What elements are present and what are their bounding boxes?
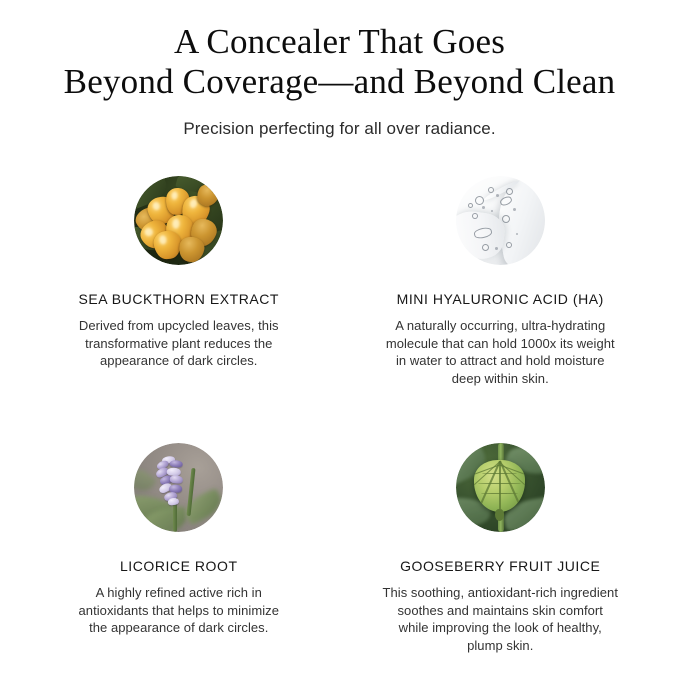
description-line: while improving the look of healthy,: [382, 619, 618, 637]
gooseberry-husk: [474, 460, 526, 512]
gooseberry-thumbnail: [456, 443, 545, 532]
licorice-root-thumbnail: [134, 443, 223, 532]
description-line: A highly refined active rich in: [79, 584, 279, 602]
ingredient-benefits-page: A Concealer That Goes Beyond Coverage—an…: [0, 0, 679, 679]
description-line: deep within skin.: [386, 370, 615, 388]
ingredient-title: LICORICE ROOT: [120, 558, 238, 575]
ingredient-title: GOOSEBERRY FRUIT JUICE: [400, 558, 600, 575]
page-subtitle: Precision perfecting for all over radian…: [0, 118, 679, 140]
description-line: transformative plant reduces the: [79, 335, 279, 353]
page-title: A Concealer That Goes Beyond Coverage—an…: [0, 22, 679, 102]
page-title-line-1: A Concealer That Goes: [30, 22, 649, 62]
hyaluronic-acid-thumbnail: [456, 176, 545, 265]
description-line: soothes and maintains skin comfort: [382, 602, 618, 620]
ingredient-description: A naturally occurring, ultra-hydrating m…: [386, 317, 615, 387]
ingredient-description: A highly refined active rich in antioxid…: [79, 584, 279, 637]
description-line: molecule that can hold 1000x its weight: [386, 335, 615, 353]
ingredient-card-gooseberry: GOOSEBERRY FRUIT JUICE This soothing, an…: [340, 443, 662, 654]
ingredient-description: This soothing, antioxidant-rich ingredie…: [382, 584, 618, 654]
ingredient-card-licorice-root: LICORICE ROOT A highly refined active ri…: [18, 443, 340, 654]
description-line: appearance of dark circles.: [79, 352, 279, 370]
description-line: antioxidants that helps to minimize: [79, 602, 279, 620]
description-line: This soothing, antioxidant-rich ingredie…: [382, 584, 618, 602]
ingredient-card-sea-buckthorn: SEA BUCKTHORN EXTRACT Derived from upcyc…: [18, 176, 340, 387]
page-title-line-2: Beyond Coverage—and Beyond Clean: [30, 62, 649, 102]
ingredient-title: MINI HYALURONIC ACID (HA): [397, 291, 604, 308]
description-line: the appearance of dark circles.: [79, 619, 279, 637]
description-line: plump skin.: [382, 637, 618, 655]
description-line: in water to attract and hold moisture: [386, 352, 615, 370]
ingredient-grid: SEA BUCKTHORN EXTRACT Derived from upcyc…: [0, 176, 679, 654]
ingredient-card-hyaluronic-acid: MINI HYALURONIC ACID (HA) A naturally oc…: [340, 176, 662, 387]
description-line: Derived from upcycled leaves, this: [79, 317, 279, 335]
description-line: A naturally occurring, ultra-hydrating: [386, 317, 615, 335]
ingredient-title: SEA BUCKTHORN EXTRACT: [78, 291, 279, 308]
sea-buckthorn-berries-photo: [134, 176, 223, 265]
licorice-root-flower-photo: [134, 443, 223, 532]
ingredient-description: Derived from upcycled leaves, this trans…: [79, 317, 279, 370]
sea-buckthorn-thumbnail: [134, 176, 223, 265]
page-header: A Concealer That Goes Beyond Coverage—an…: [0, 0, 679, 140]
gooseberry-fruit-photo: [456, 443, 545, 532]
hyaluronic-acid-gel-texture-photo: [456, 176, 545, 265]
